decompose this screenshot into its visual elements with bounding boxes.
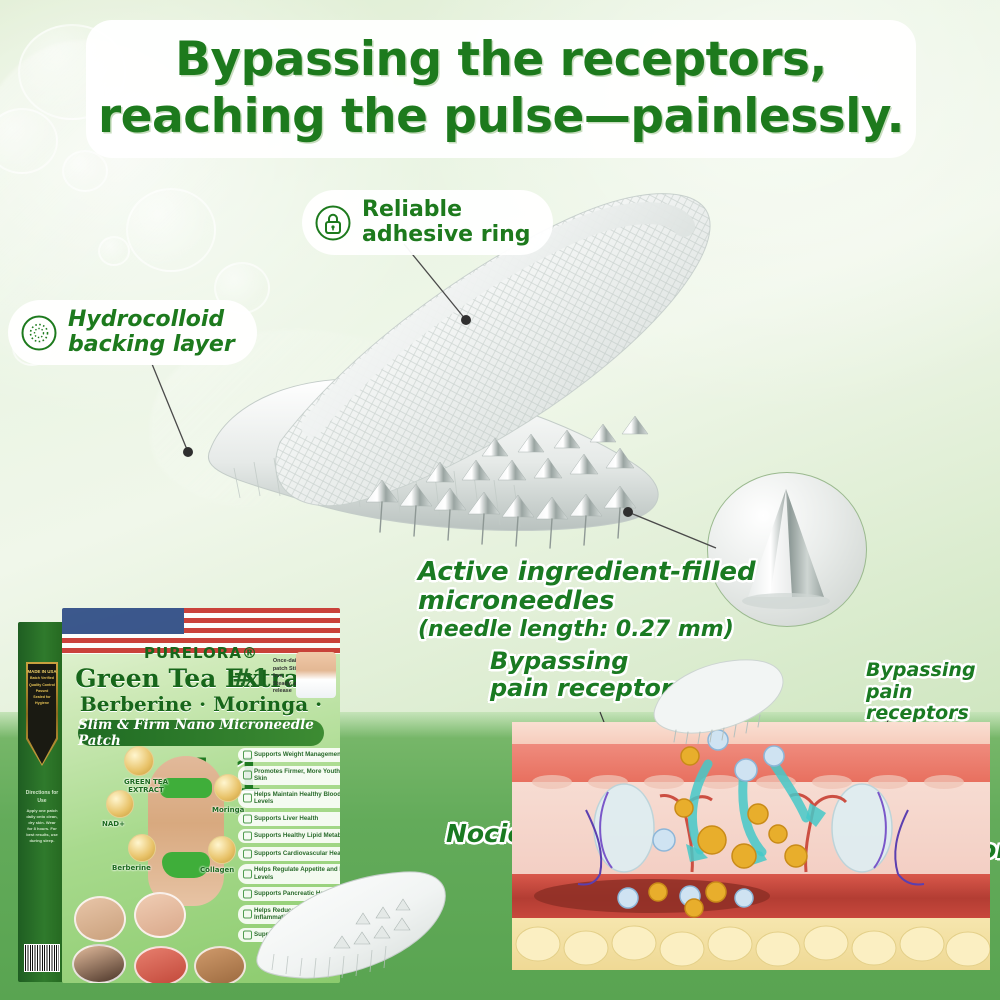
- ingredient-medallion: [124, 746, 154, 776]
- benefit-item: Supports Weight Management: [238, 748, 340, 762]
- ingredient-medallion: [106, 790, 134, 818]
- label-bypass-right: Bypassing pain receptors: [866, 660, 1000, 725]
- ingredient-label-green-tea: GREEN TEA EXTRACT: [116, 778, 176, 794]
- label-microneedles-sub: (needle length: 0.27 mm): [418, 617, 756, 642]
- rank-number: #1: [232, 663, 269, 692]
- nociceptor-corpuscle: [594, 784, 654, 872]
- product-subtitle: Slim & Firm Nano Microneedle Patch: [78, 720, 324, 746]
- callout-adhesive-label: Reliable adhesive ring: [362, 198, 531, 247]
- callout-hydrocolloid-label: Hydrocolloid backing layer: [68, 308, 235, 357]
- doctor-photo: [296, 652, 336, 698]
- ingredient-medallion: [128, 834, 156, 862]
- callout-adhesive-ring[interactable]: Reliable adhesive ring: [302, 190, 553, 255]
- page-title: Bypassing the receptors, reaching the pu…: [86, 22, 916, 156]
- ingredient-medallion: [214, 774, 242, 802]
- benefit-item: Supports Healthy Lipid Metabolism: [238, 829, 340, 843]
- result-photo: [134, 892, 186, 938]
- benefit-item: Promotes Firmer, More Youthful-Looking S…: [238, 766, 340, 786]
- callout-hydrocolloid[interactable]: Hydrocolloid backing layer: [8, 300, 257, 365]
- result-photo: [72, 944, 126, 983]
- dotted-circle-icon: [20, 314, 58, 352]
- ingredient-label-moringa: Moringa: [212, 806, 244, 814]
- ingredient-medallion: [208, 836, 236, 864]
- ingredient-label-collagen: Collagen: [200, 866, 234, 874]
- directions-title: Directions for Use: [22, 790, 62, 806]
- result-photo: [74, 896, 126, 942]
- infographic-canvas: Bypassing the receptors, reaching the pu…: [0, 0, 1000, 1000]
- headline-line-2: reaching the pulse—painlessly.: [98, 90, 904, 145]
- directions-block: Directions for Use Apply one patch daily…: [22, 790, 62, 845]
- directions-body: Apply one patch daily onto clean, dry sk…: [22, 808, 62, 845]
- benefit-item: Helps Maintain Healthy Blood Sugar Level…: [238, 789, 340, 809]
- microneedle-patch-small-illustration: [248, 862, 458, 994]
- headline-line-1: Bypassing the receptors,: [175, 33, 827, 88]
- patch-on-skin-illustration: [648, 652, 794, 744]
- product-box-side-panel: MADE IN USA Batch Verified Quality Contr…: [18, 622, 66, 982]
- lock-icon: [314, 204, 352, 242]
- skin-cross-section-diagram: [512, 722, 990, 970]
- fat-lobules: [516, 926, 990, 966]
- made-in-usa-badge: MADE IN USA Batch Verified Quality Contr…: [26, 662, 58, 766]
- benefit-item: Supports Cardiovascular Health: [238, 847, 340, 861]
- result-photo: [134, 946, 188, 983]
- benefit-item: Supports Liver Health: [238, 812, 340, 826]
- made-in-usa-text: MADE IN USA: [26, 668, 58, 675]
- result-photo: [194, 946, 246, 983]
- barcode: [24, 944, 60, 972]
- badge-lines: Batch Verified Quality Control Passed Se…: [26, 675, 58, 706]
- ingredient-label-berberine: Berberine: [112, 864, 151, 872]
- label-microneedles-main: Active ingredient-filled microneedles: [418, 557, 756, 617]
- ingredient-label-nad: NAD+: [102, 820, 125, 828]
- skin-diagram-overlay: [512, 722, 990, 970]
